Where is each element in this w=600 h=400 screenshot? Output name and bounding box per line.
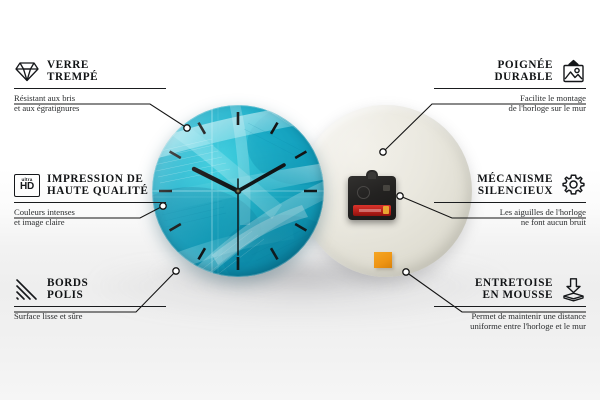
- gear-icon: [560, 172, 586, 198]
- ultra-hd-badge: ultra HD: [14, 174, 40, 197]
- feature-title-line1: ENTRETOISE: [475, 277, 553, 289]
- movement-dial: [357, 186, 370, 199]
- feature-title: MÉCANISME SILENCIEUX: [477, 173, 553, 198]
- feature-title-line2: TREMPÉ: [47, 71, 98, 83]
- down-arrow-stack-icon: [560, 276, 586, 302]
- infographic-stage: VERRE TREMPÉ Résistant aux bris et aux é…: [0, 0, 600, 400]
- feature-sub-line1: Les aiguilles de l'horloge: [500, 207, 586, 217]
- feature-title: BORDS POLIS: [47, 277, 88, 302]
- feature-header: ultra HD IMPRESSION DE HAUTE QUALITÉ: [14, 172, 166, 198]
- feature-title: ENTRETOISE EN MOUSSE: [475, 277, 553, 302]
- ultra-hd-icon: ultra HD: [14, 172, 40, 198]
- feature-title-line1: MÉCANISME: [477, 173, 553, 185]
- feature-title: IMPRESSION DE HAUTE QUALITÉ: [47, 173, 148, 198]
- feature-sub-line2: uniforme entre l'horloge et le mur: [470, 321, 586, 331]
- feature-poignee-durable: POIGNÉE DURABLE Facilite le montage de l…: [434, 58, 586, 114]
- feature-title: VERRE TREMPÉ: [47, 59, 98, 84]
- ultra-hd-main-text: HD: [20, 182, 34, 192]
- feature-header: MÉCANISME SILENCIEUX: [434, 172, 586, 198]
- feature-header: VERRE TREMPÉ: [14, 58, 166, 84]
- movement-chip: [383, 185, 390, 191]
- battery-terminal: [383, 206, 389, 214]
- feature-sub-line1: Facilite le montage: [520, 93, 586, 103]
- feature-sub-line1: Surface lisse et sûre: [14, 311, 83, 321]
- feature-title-line2: DURABLE: [494, 71, 553, 83]
- feature-subtitle: Surface lisse et sûre: [14, 311, 166, 321]
- clock-movement: [348, 176, 396, 220]
- picture-hanger-icon: [560, 58, 586, 84]
- battery-band: [359, 209, 381, 212]
- feature-subtitle: Couleurs intenses et image claire: [14, 207, 166, 228]
- clock-artwork: [152, 105, 324, 277]
- feature-bords-polis: BORDS POLIS Surface lisse et sûre: [14, 276, 166, 321]
- feature-title-line2: EN MOUSSE: [482, 289, 553, 301]
- feature-sub-line1: Résistant aux bris: [14, 93, 75, 103]
- feature-header: POIGNÉE DURABLE: [434, 58, 586, 84]
- feature-divider: [434, 306, 586, 307]
- feature-subtitle: Résistant aux bris et aux égratignures: [14, 93, 166, 114]
- feature-divider: [14, 202, 166, 203]
- feature-title: POIGNÉE DURABLE: [494, 59, 553, 84]
- feature-title-line2: SILENCIEUX: [478, 185, 553, 197]
- feature-subtitle: Facilite le montage de l'horloge sur le …: [434, 93, 586, 114]
- feature-title-line2: POLIS: [47, 289, 83, 301]
- foam-spacer: [374, 252, 392, 268]
- battery: [353, 205, 391, 216]
- feature-title-line2: HAUTE QUALITÉ: [47, 185, 148, 197]
- feature-header: ENTRETOISE EN MOUSSE: [434, 276, 586, 302]
- polished-edges-icon: [14, 276, 40, 302]
- feature-impression-haute-qualite: ultra HD IMPRESSION DE HAUTE QUALITÉ Cou…: [14, 172, 166, 228]
- feature-header: BORDS POLIS: [14, 276, 166, 302]
- feature-sub-line1: Permet de maintenir une distance: [471, 311, 586, 321]
- feature-mecanisme-silencieux: MÉCANISME SILENCIEUX Les aiguilles de l'…: [434, 172, 586, 228]
- feature-sub-line1: Couleurs intenses: [14, 207, 75, 217]
- movement-hanger: [366, 170, 378, 179]
- feature-sub-line2: et image claire: [14, 217, 65, 227]
- feature-divider: [14, 88, 166, 89]
- diamond-icon: [14, 58, 40, 84]
- feature-subtitle: Les aiguilles de l'horloge ne font aucun…: [434, 207, 586, 228]
- feature-sub-line2: ne font aucun bruit: [521, 217, 586, 227]
- feature-title-line1: BORDS: [47, 277, 88, 289]
- feature-verre-trempe: VERRE TREMPÉ Résistant aux bris et aux é…: [14, 58, 166, 114]
- feature-divider: [434, 202, 586, 203]
- feature-divider: [14, 306, 166, 307]
- feature-title-line1: IMPRESSION DE: [47, 173, 143, 185]
- feature-subtitle: Permet de maintenir une distance uniform…: [434, 311, 586, 332]
- feature-title-line1: POIGNÉE: [498, 59, 553, 71]
- feature-sub-line2: et aux égratignures: [14, 103, 79, 113]
- clock-front-face: [152, 105, 324, 277]
- feature-sub-line2: de l'horloge sur le mur: [509, 103, 586, 113]
- feature-divider: [434, 88, 586, 89]
- feature-entretoise-en-mousse: ENTRETOISE EN MOUSSE Permet de maintenir…: [434, 276, 586, 332]
- feature-title-line1: VERRE: [47, 59, 89, 71]
